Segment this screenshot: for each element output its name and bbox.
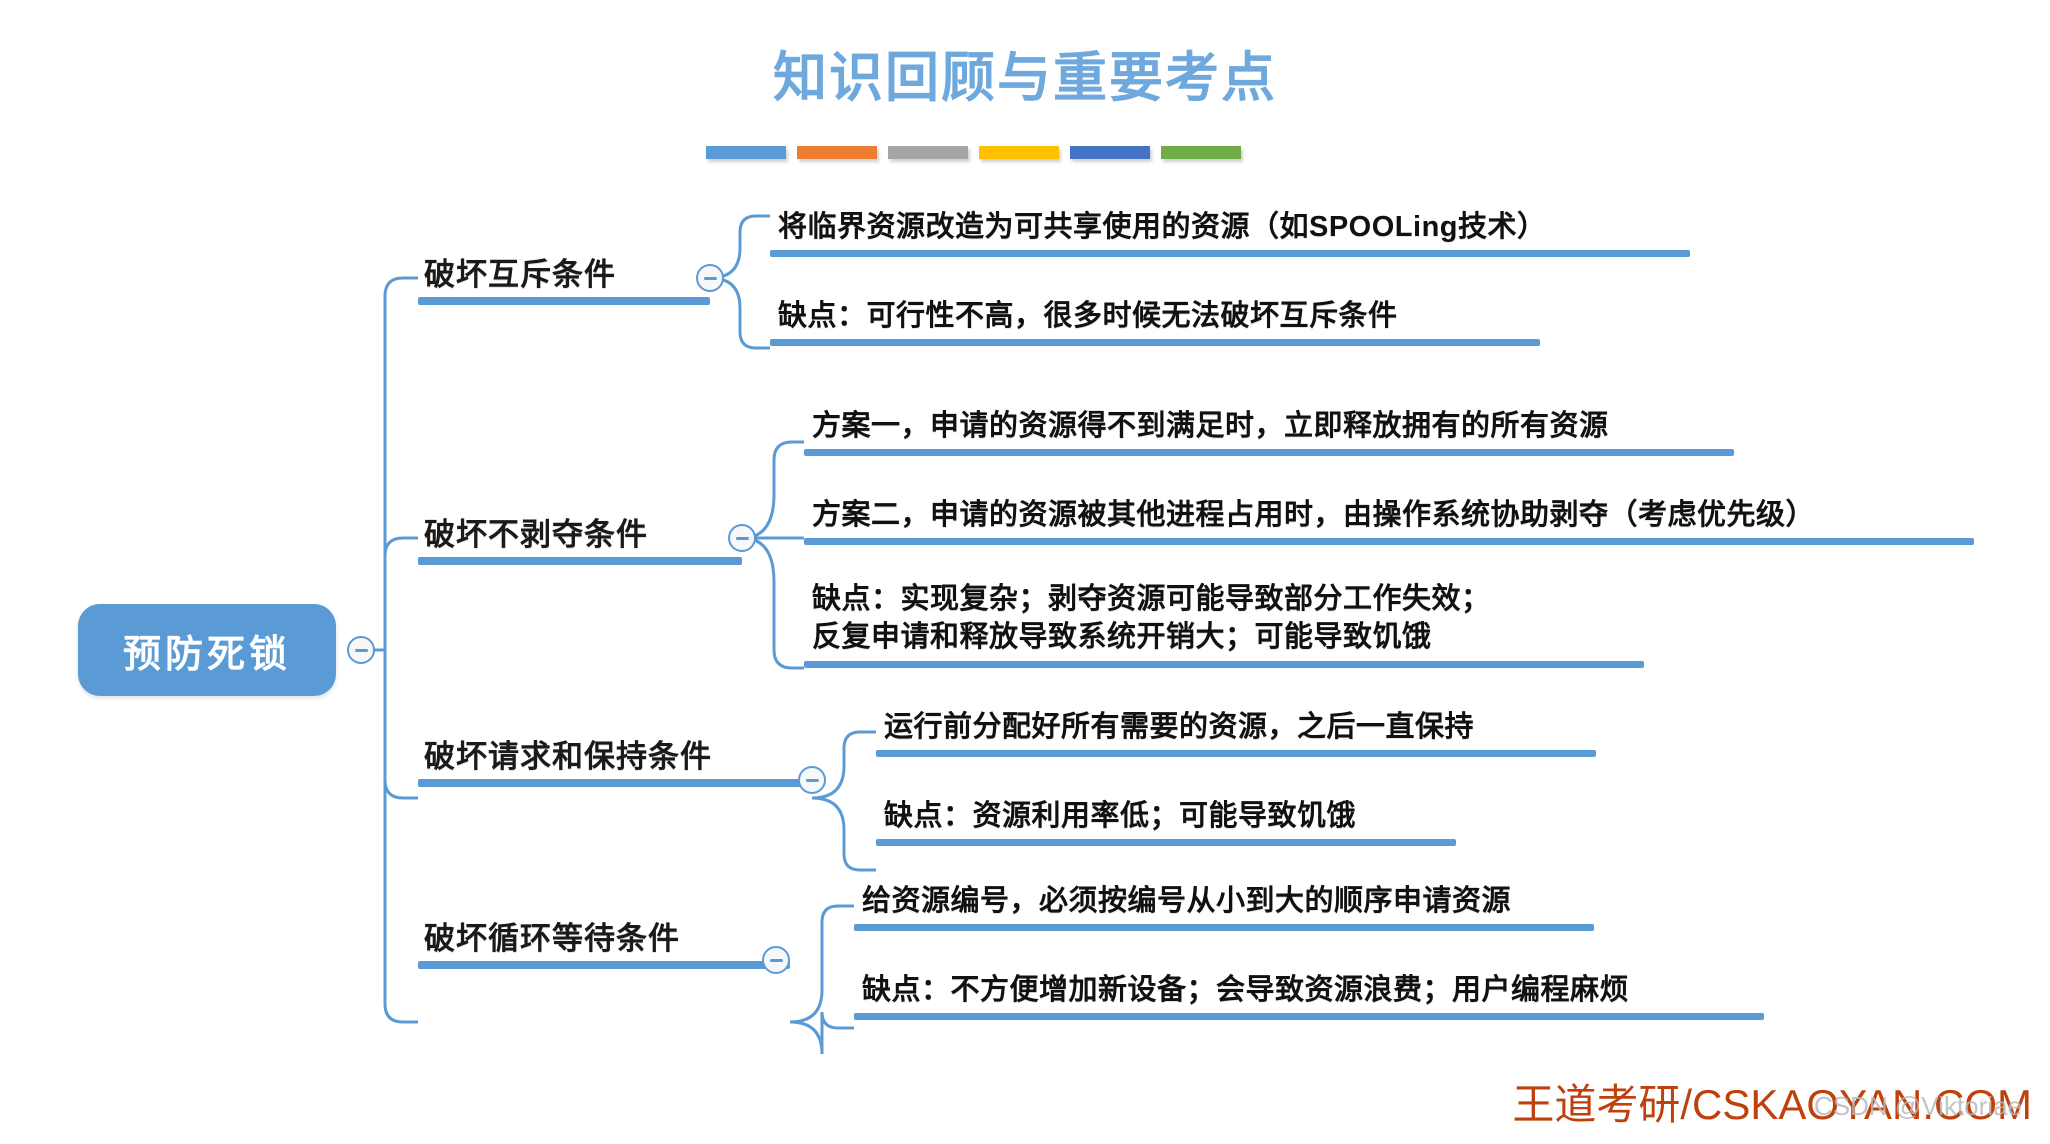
root-collapse-toggle[interactable] (347, 636, 375, 664)
leaf-underline-1-2 (770, 339, 1540, 346)
leaf-underline-3-2 (876, 839, 1456, 846)
branch-label-2: 破坏不剥夺条件 (418, 518, 742, 557)
branch-node-1[interactable]: 破坏互斥条件 (418, 258, 710, 305)
branch-underline-1 (418, 297, 710, 305)
root-node[interactable]: 预防死锁 (78, 604, 336, 696)
leaf-underline-2-2 (804, 538, 1974, 545)
leaf-label-1-2: 缺点：可行性不高，很多时候无法破坏互斥条件 (770, 297, 1540, 339)
leaf-node-3-1[interactable]: 运行前分配好所有需要的资源，之后一直保持 (876, 708, 1596, 757)
branch-label-4: 破坏循环等待条件 (418, 922, 790, 961)
branch-label-3: 破坏请求和保持条件 (418, 740, 812, 779)
leaf-label-4-2: 缺点：不方便增加新设备；会导致资源浪费；用户编程麻烦 (854, 971, 1764, 1013)
mindmap: 预防死锁 破坏互斥条件 将临界资源改造为可共享使用的资源（如SPOOLing技术… (0, 0, 2050, 1144)
leaf-underline-3-1 (876, 750, 1596, 757)
branch-node-4[interactable]: 破坏循环等待条件 (418, 922, 790, 969)
branch-underline-4 (418, 961, 790, 969)
leaf-label-1-1: 将临界资源改造为可共享使用的资源（如SPOOLing技术） (770, 208, 1690, 250)
author-watermark: CSDN @Viktoriae (1814, 1091, 2022, 1122)
leaf-node-4-1[interactable]: 给资源编号，必须按编号从小到大的顺序申请资源 (854, 882, 1594, 931)
minus-icon (770, 959, 783, 962)
branch-collapse-toggle-1[interactable] (696, 264, 724, 292)
leaf-underline-4-1 (854, 924, 1594, 931)
branch-collapse-toggle-4[interactable] (762, 946, 790, 974)
branch-collapse-toggle-3[interactable] (798, 766, 826, 794)
leaf-label-2-3: 缺点：实现复杂；剥夺资源可能导致部分工作失效； 反复申请和释放导致系统开销大；可… (804, 580, 1644, 661)
leaf-label-3-2: 缺点：资源利用率低；可能导致饥饿 (876, 797, 1456, 839)
leaf-label-4-1: 给资源编号，必须按编号从小到大的顺序申请资源 (854, 882, 1594, 924)
leaf-node-1-2[interactable]: 缺点：可行性不高，很多时候无法破坏互斥条件 (770, 297, 1540, 346)
root-node-label: 预防死锁 (123, 623, 291, 678)
branch-collapse-toggle-2[interactable] (728, 524, 756, 552)
minus-icon (806, 779, 819, 782)
leaf-underline-4-2 (854, 1013, 1764, 1020)
leaf-node-2-3[interactable]: 缺点：实现复杂；剥夺资源可能导致部分工作失效； 反复申请和释放导致系统开销大；可… (804, 580, 1644, 668)
leaf-underline-2-1 (804, 449, 1734, 456)
leaf-label-2-1: 方案一，申请的资源得不到满足时，立即释放拥有的所有资源 (804, 407, 1734, 449)
leaf-underline-2-3 (804, 661, 1644, 668)
leaf-node-1-1[interactable]: 将临界资源改造为可共享使用的资源（如SPOOLing技术） (770, 208, 1690, 257)
leaf-node-3-2[interactable]: 缺点：资源利用率低；可能导致饥饿 (876, 797, 1456, 846)
branch-underline-2 (418, 557, 742, 565)
branch-node-3[interactable]: 破坏请求和保持条件 (418, 740, 812, 787)
slide-canvas: 知识回顾与重要考点 (0, 0, 2050, 1144)
minus-icon (355, 649, 368, 652)
minus-icon (704, 277, 717, 280)
leaf-node-2-2[interactable]: 方案二，申请的资源被其他进程占用时，由操作系统协助剥夺（考虑优先级） (804, 496, 1974, 545)
minus-icon (736, 537, 749, 540)
leaf-label-3-1: 运行前分配好所有需要的资源，之后一直保持 (876, 708, 1596, 750)
branch-underline-3 (418, 779, 812, 787)
branch-label-1: 破坏互斥条件 (418, 258, 710, 297)
branch-node-2[interactable]: 破坏不剥夺条件 (418, 518, 742, 565)
leaf-node-4-2[interactable]: 缺点：不方便增加新设备；会导致资源浪费；用户编程麻烦 (854, 971, 1764, 1020)
leaf-label-2-2: 方案二，申请的资源被其他进程占用时，由操作系统协助剥夺（考虑优先级） (804, 496, 1974, 538)
leaf-node-2-1[interactable]: 方案一，申请的资源得不到满足时，立即释放拥有的所有资源 (804, 407, 1734, 456)
leaf-underline-1-1 (770, 250, 1690, 257)
